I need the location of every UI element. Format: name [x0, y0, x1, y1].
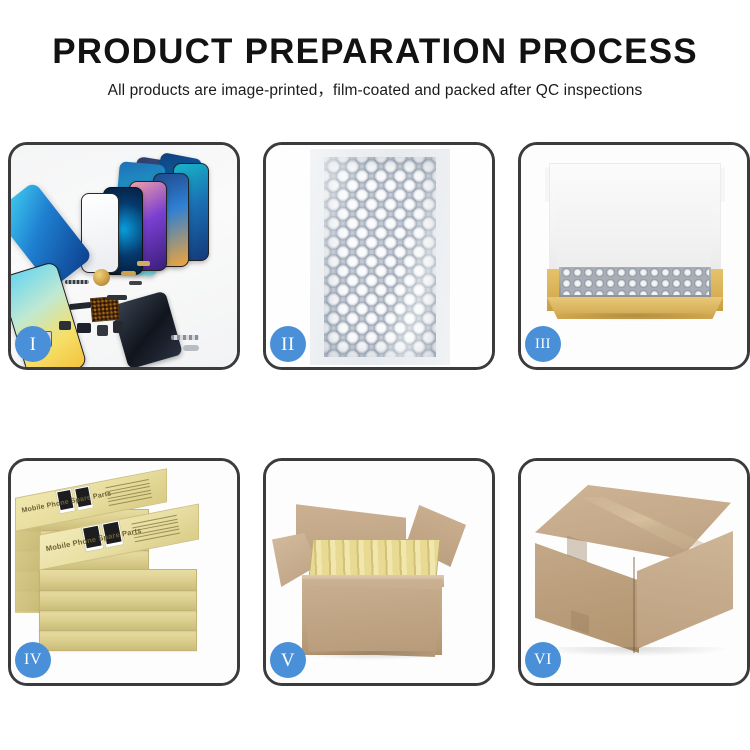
page-subtitle: All products are image-printed，film-coat…	[0, 80, 750, 102]
steps-grid: I II III	[8, 142, 742, 682]
step-badge-2: II	[270, 326, 306, 362]
mailer-lid-inner	[557, 191, 711, 273]
small-part-6	[97, 325, 108, 336]
stacked-box-front-4	[39, 629, 197, 651]
small-part-1	[121, 271, 136, 276]
step-panel-2: II	[263, 142, 495, 370]
flex-cable-part	[65, 280, 89, 284]
step-badge-1: I	[15, 326, 51, 362]
sealed-carton-edge-seam	[633, 557, 635, 653]
small-part-3	[69, 302, 92, 310]
small-part-5	[77, 323, 91, 333]
step-panel-1: I	[8, 142, 240, 370]
step-panel-5: V	[263, 458, 495, 686]
sealed-carton-left-face	[535, 543, 639, 653]
small-part-7	[113, 321, 123, 333]
carton-shadow	[302, 651, 444, 660]
small-part-2	[129, 281, 142, 285]
bubble-wrap-sheen	[324, 157, 436, 357]
bubble-wrapped-contents	[561, 267, 709, 295]
stacked-box-front-3	[39, 609, 197, 631]
step-panel-4: Mobile Phone Spare Parts Mobile Phone Sp…	[8, 458, 240, 686]
step-badge-3: III	[525, 326, 561, 362]
step-panel-6: VI	[518, 458, 750, 686]
small-part-12	[137, 261, 150, 266]
mailer-box-shadow	[551, 313, 719, 321]
step-badge-4: IV	[15, 642, 51, 678]
small-part-11	[183, 345, 199, 351]
header: PRODUCT PREPARATION PROCESS All products…	[0, 30, 750, 102]
stacked-box-front-2	[39, 589, 197, 611]
product-preparation-infographic: PRODUCT PREPARATION PROCESS All products…	[0, 0, 750, 750]
speaker-part	[93, 269, 110, 286]
step-badge-5: V	[270, 642, 306, 678]
carton-front-face	[302, 585, 442, 657]
sealed-carton-shadow	[539, 647, 727, 656]
step-panel-3: III	[518, 142, 750, 370]
stacked-box-front-1	[39, 569, 197, 591]
small-part-9	[107, 295, 127, 300]
small-part-10	[171, 335, 199, 340]
step-badge-6: VI	[525, 642, 561, 678]
small-part-4	[59, 321, 71, 330]
page-title: PRODUCT PREPARATION PROCESS	[0, 30, 750, 74]
